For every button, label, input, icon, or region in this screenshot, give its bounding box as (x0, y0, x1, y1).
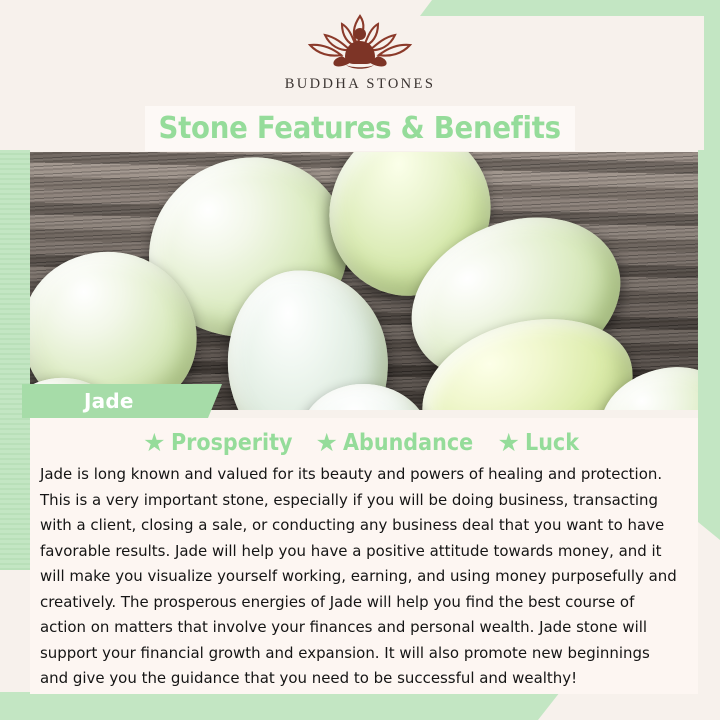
stone-photo (0, 152, 720, 410)
page-title: Stone Features & Benefits (159, 111, 561, 146)
benefit-label: Luck (525, 430, 579, 456)
benefit-item-abundance: ★ Abundance (315, 430, 487, 456)
title-banner: Stone Features & Benefits (145, 106, 575, 151)
benefits-row: ★ Prosperity ★ Abundance ★ Luck (38, 430, 690, 456)
stone-name-label: Jade (84, 389, 134, 413)
benefit-label: Abundance (343, 430, 473, 456)
right-green-band (698, 150, 720, 540)
brand-logo: BUDDHA STONES (0, 12, 720, 104)
star-icon: ★ (498, 431, 520, 456)
lotus-meditation-icon (294, 12, 426, 74)
brand-name: BUDDHA STONES (285, 76, 436, 93)
benefit-label: Prosperity (171, 430, 292, 456)
left-green-band (0, 150, 30, 570)
star-icon: ★ (315, 431, 337, 456)
bottom-green-accent (0, 692, 560, 720)
star-icon: ★ (143, 431, 165, 456)
content-panel: ★ Prosperity ★ Abundance ★ Luck Jade is … (30, 418, 698, 694)
description-text: Jade is long known and valued for its be… (38, 462, 680, 692)
stone-name-banner: Jade (22, 384, 222, 418)
benefit-item-luck: ★ Luck (498, 430, 585, 456)
benefit-item-prosperity: ★ Prosperity (143, 430, 305, 456)
